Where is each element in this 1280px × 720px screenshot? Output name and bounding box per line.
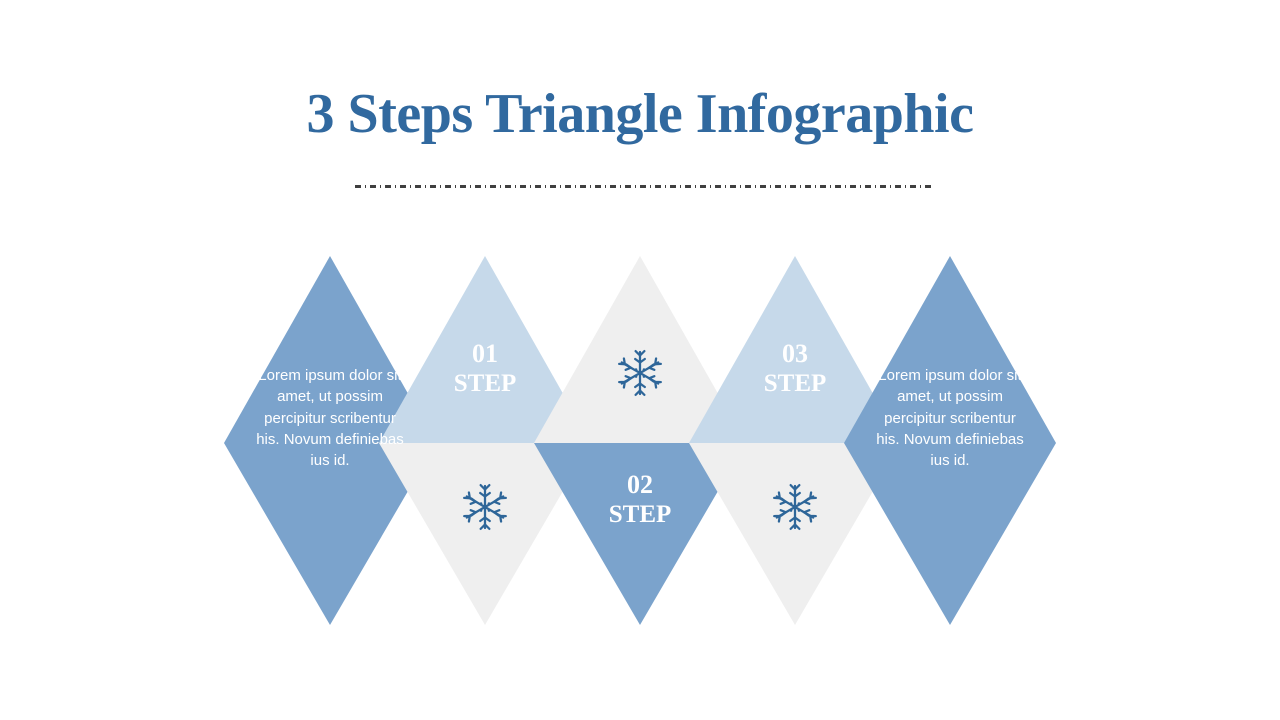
triangle-infographic: Lorem ipsum dolor sit amet, ut possim pe… [0, 0, 1280, 720]
right-panel-bottom-triangle[interactable] [844, 443, 1056, 625]
triangle-shapes [0, 0, 1280, 720]
slide-canvas: 3 Steps Triangle Infographic [0, 0, 1280, 720]
right-panel-top-triangle[interactable] [844, 256, 1056, 443]
